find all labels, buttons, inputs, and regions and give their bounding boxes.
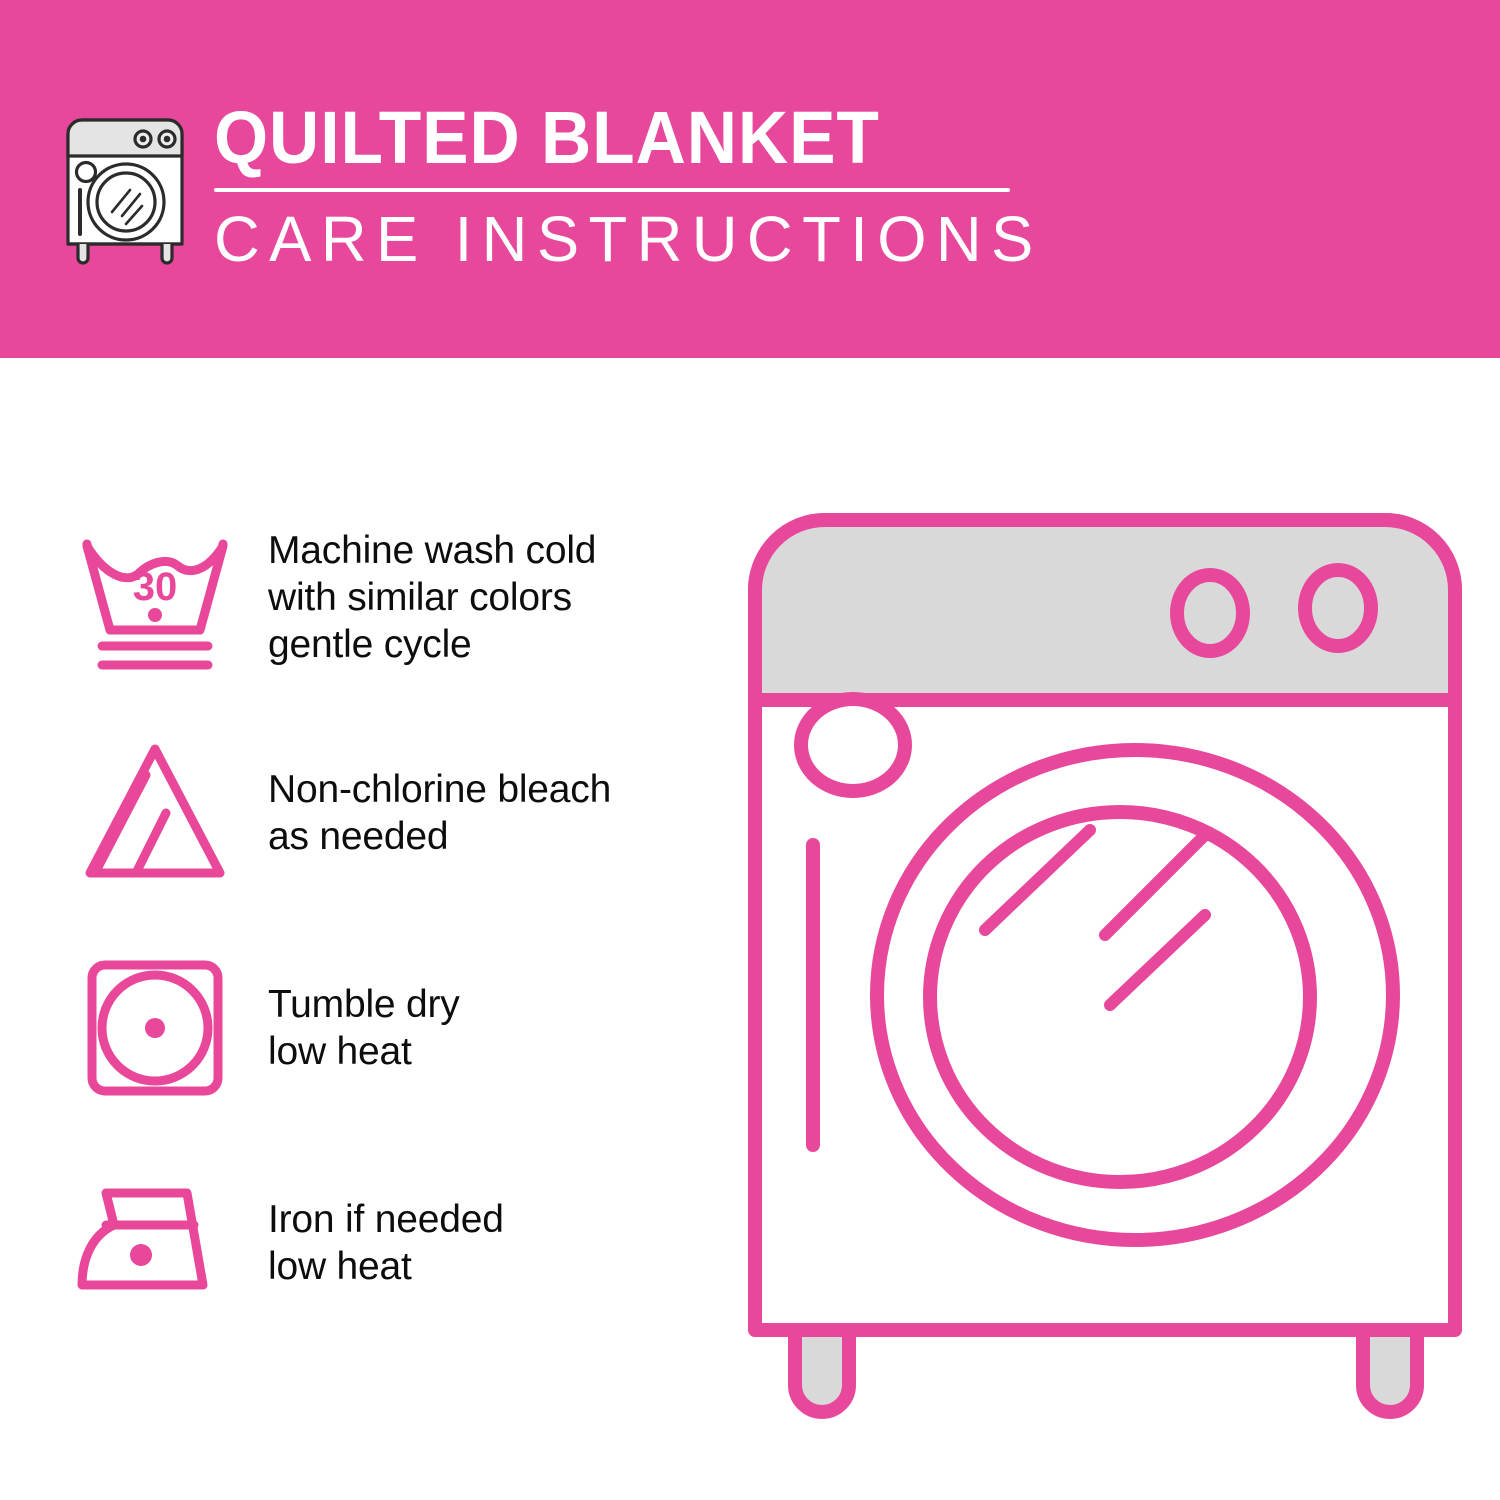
- title-divider: [214, 188, 1010, 192]
- washer-knob-left: [1177, 575, 1243, 651]
- non-chlorine-bleach-icon: [70, 733, 240, 893]
- header-banner: QUILTED BLANKET CARE INSTRUCTIONS: [0, 0, 1500, 358]
- care-line: gentle cycle: [268, 621, 596, 668]
- care-label-tumble-dry: Tumble dry low heat: [268, 981, 460, 1075]
- care-line: low heat: [268, 1028, 460, 1075]
- care-row-iron: Iron if needed low heat: [0, 1135, 720, 1350]
- washer-leg-right: [1363, 1330, 1417, 1412]
- iron-low-heat-icon: [70, 1163, 240, 1323]
- care-line: with similar colors: [268, 574, 596, 621]
- washing-machine-icon: [60, 106, 190, 266]
- tumble-dry-low-icon: [70, 948, 240, 1108]
- header-text-block: QUILTED BLANKET CARE INSTRUCTIONS: [214, 98, 1014, 274]
- washer-dispenser: [801, 699, 905, 791]
- care-label-bleach: Non-chlorine bleach as needed: [268, 766, 611, 860]
- care-label-machine-wash: Machine wash cold with similar colors ge…: [268, 527, 596, 668]
- washing-machine-illustration: [735, 485, 1475, 1435]
- page-subtitle: CARE INSTRUCTIONS: [214, 204, 1006, 274]
- wash-temperature-label: 30: [133, 565, 178, 609]
- care-row-tumble-dry: Tumble dry low heat: [0, 920, 720, 1135]
- care-instruction-list: 30 Machine wash cold with similar colors…: [0, 490, 720, 1350]
- care-line: Machine wash cold: [268, 527, 596, 574]
- care-line: Non-chlorine bleach: [268, 766, 611, 813]
- washer-knob-right: [1305, 570, 1371, 646]
- care-label-iron: Iron if needed low heat: [268, 1196, 504, 1290]
- care-line: Tumble dry: [268, 981, 460, 1028]
- washer-leg-left: [795, 1330, 849, 1412]
- care-line: low heat: [268, 1243, 504, 1290]
- care-row-machine-wash: 30 Machine wash cold with similar colors…: [0, 490, 720, 705]
- care-row-bleach: Non-chlorine bleach as needed: [0, 705, 720, 920]
- care-line: Iron if needed: [268, 1196, 504, 1243]
- care-line: as needed: [268, 813, 611, 860]
- machine-wash-30-gentle-icon: 30: [70, 518, 240, 678]
- page-title: QUILTED BLANKET: [214, 98, 966, 178]
- header-content: QUILTED BLANKET CARE INSTRUCTIONS: [60, 98, 1014, 274]
